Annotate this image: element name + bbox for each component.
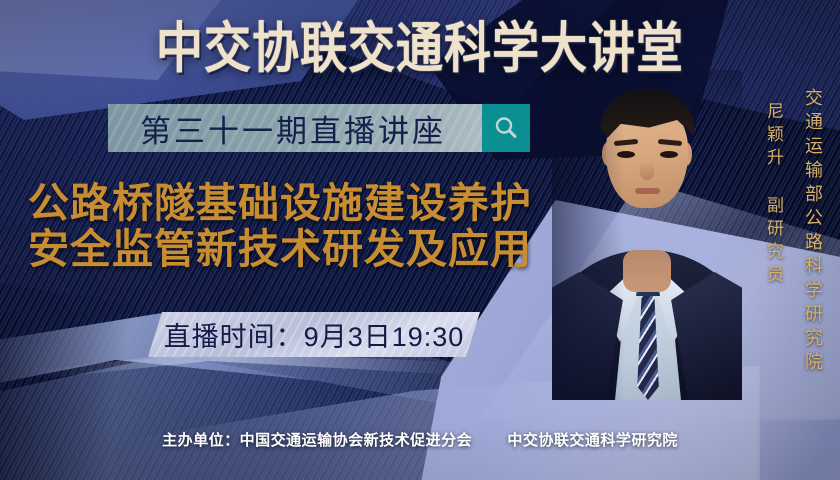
portrait-neck <box>623 250 671 292</box>
broadcast-time-badge: 直播时间：9月3日19:30 <box>148 312 480 357</box>
lecture-topic-line-1: 公路桥隧基础设施建设养护 <box>28 180 588 226</box>
portrait-nose <box>640 162 654 180</box>
portrait-mouth <box>635 188 660 194</box>
live-lecture-poster: 中交协联交通科学大讲堂 第三十一期直播讲座 公路桥隧基础设施建设养护 安全监管新… <box>0 0 840 480</box>
search-icon[interactable] <box>482 104 530 152</box>
episode-banner-label: 第三十一期直播讲座 <box>108 104 482 152</box>
footer-organizers: 主办单位：中国交通运输协会新技术促进分会 中交协联交通科学研究院 <box>0 429 840 450</box>
page-title: 中交协联交通科学大讲堂 <box>0 16 840 81</box>
portrait-eye-left <box>617 151 635 158</box>
portrait-eye-right <box>660 151 678 158</box>
speaker-organization: 交通运输部公路科学研究院 <box>803 88 822 376</box>
lecture-topic-line-2: 安全监管新技术研发及应用 <box>28 226 588 272</box>
footer-organizer: 主办单位：中国交通运输协会新技术促进分会 <box>162 432 472 449</box>
footer-institute: 中交协联交通科学研究院 <box>507 432 678 449</box>
speaker-name-title: 尼颖升 副研究员 <box>764 102 782 288</box>
lecture-topic: 公路桥隧基础设施建设养护 安全监管新技术研发及应用 <box>28 180 588 272</box>
broadcast-time-label: 直播时间：9月3日19:30 <box>164 315 465 354</box>
episode-banner: 第三十一期直播讲座 <box>108 104 530 152</box>
